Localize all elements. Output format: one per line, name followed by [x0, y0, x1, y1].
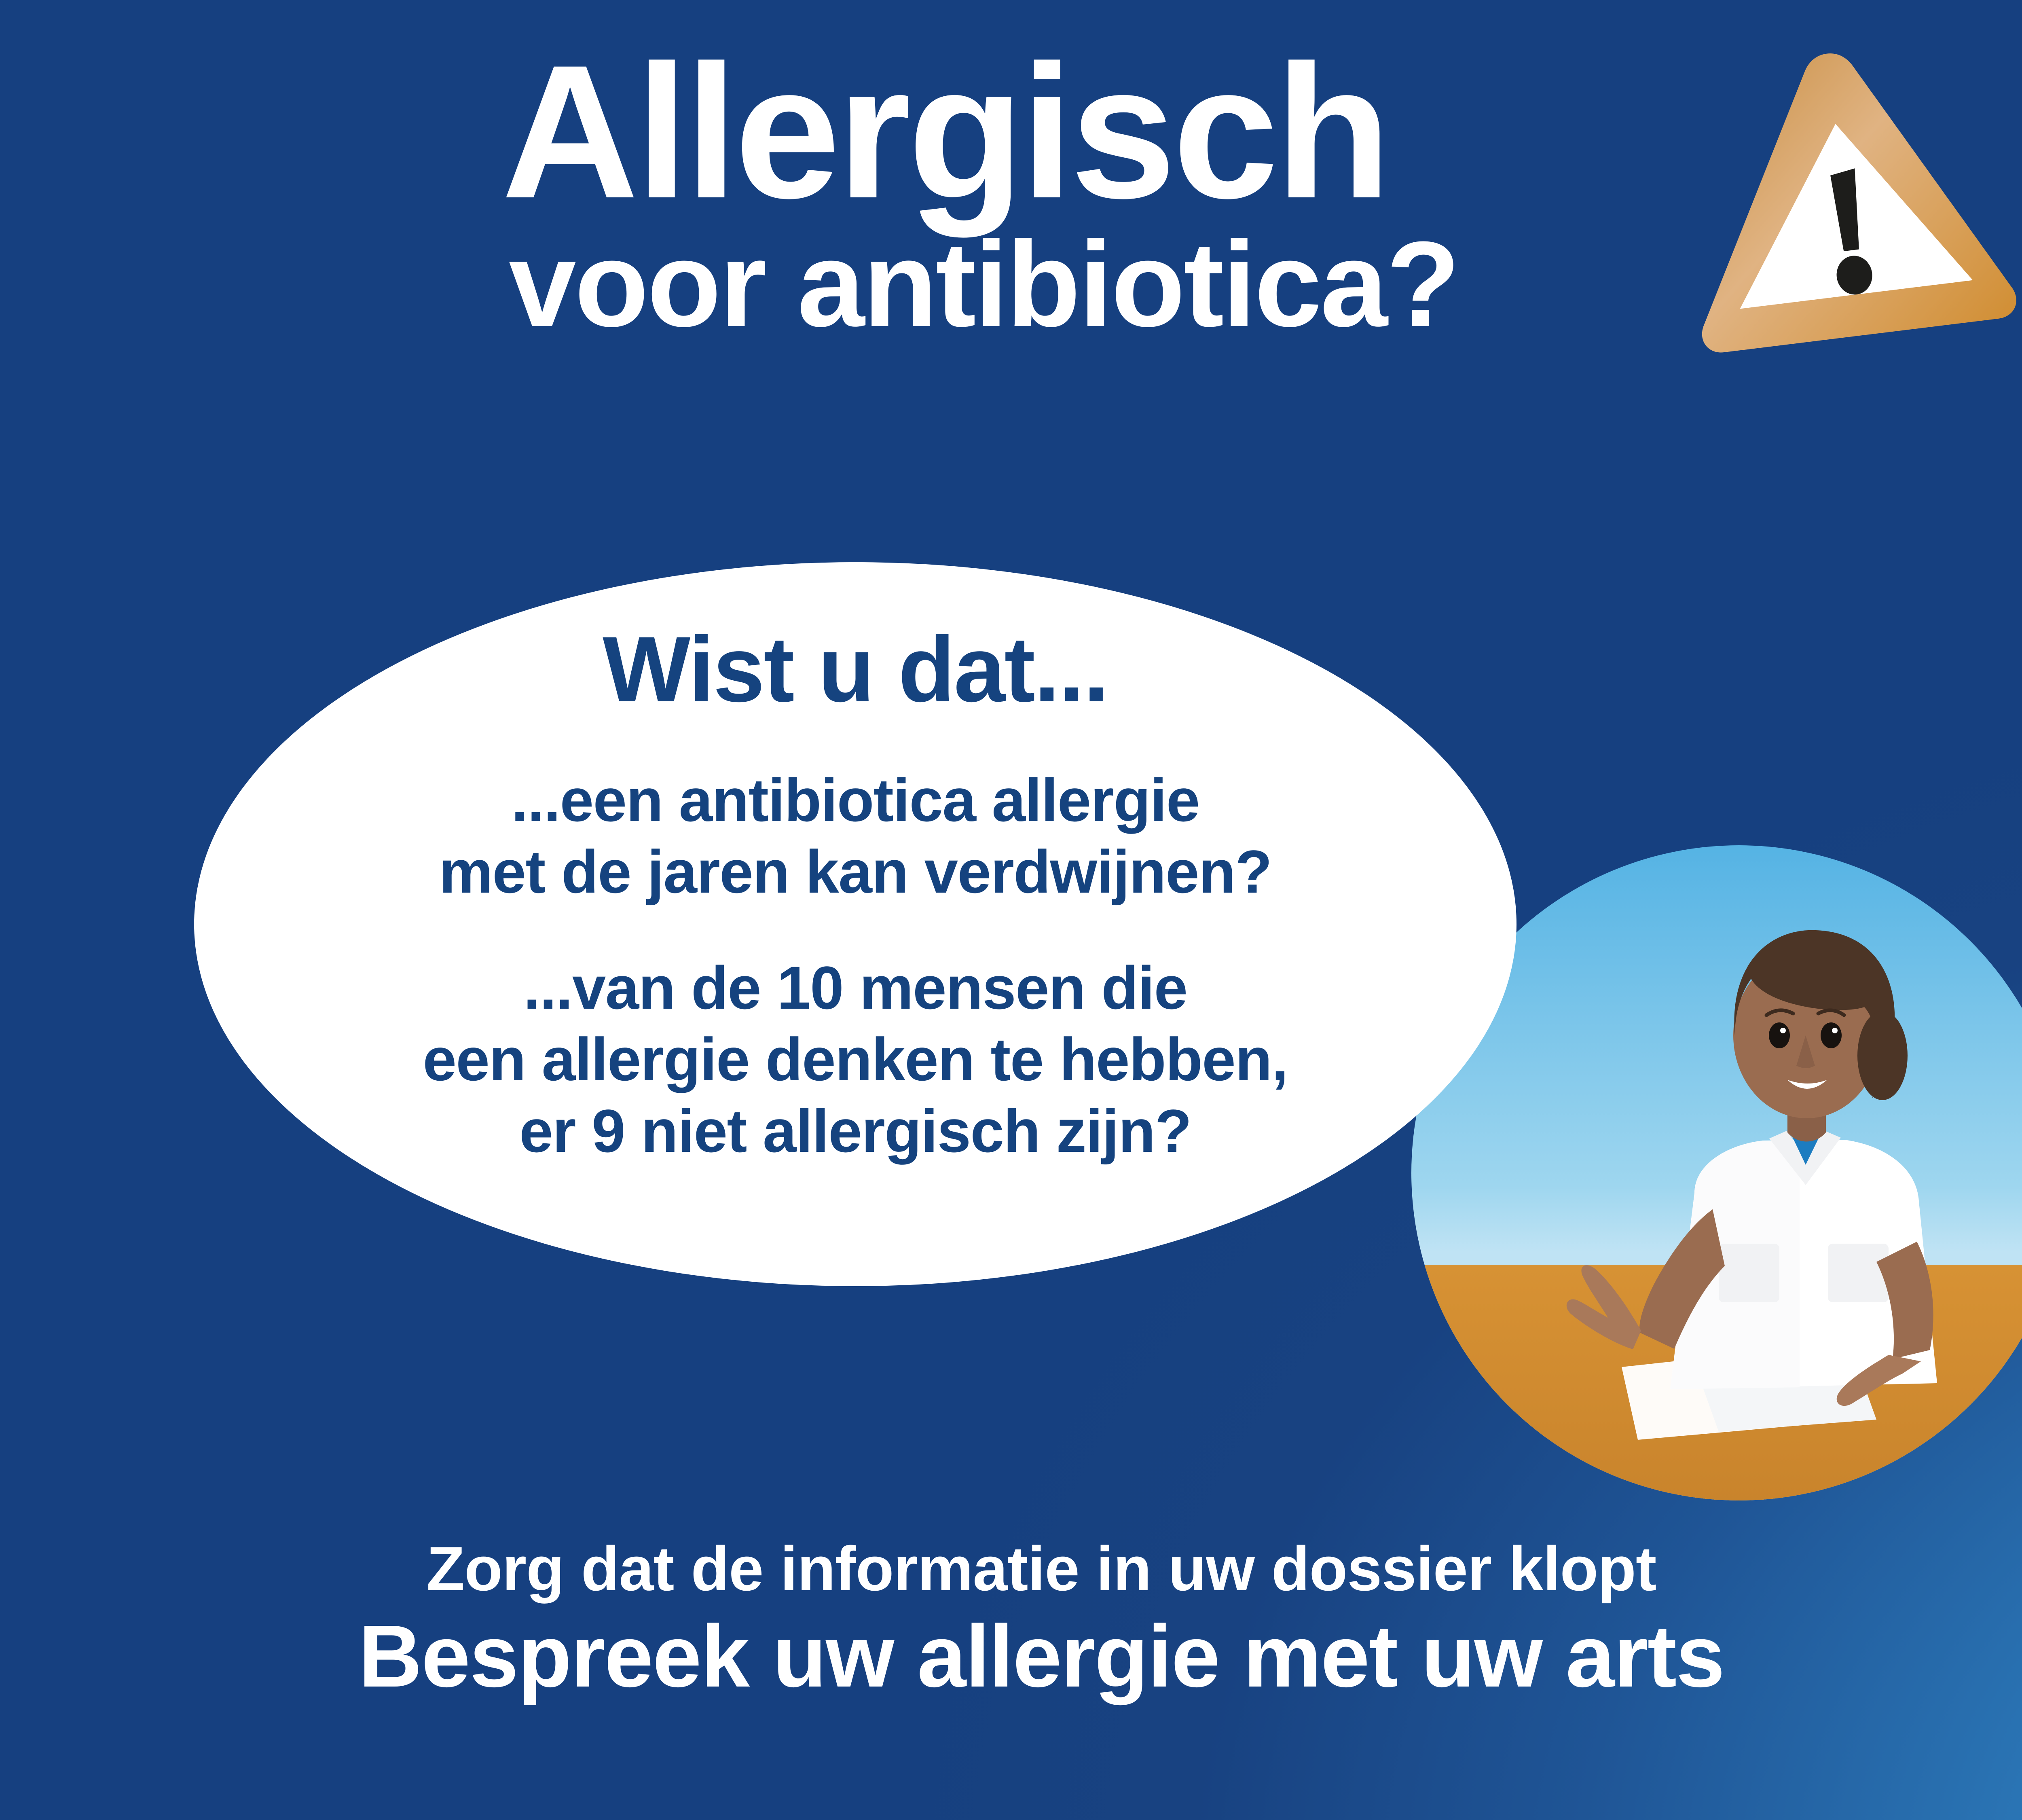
infographic-poster: Allergisch voor antibiotica? Wist u dat.…: [0, 0, 2022, 1820]
cta-line-2: Bespreek uw allergie met uw arts: [0, 1607, 2022, 1706]
bubble-paragraph-1: ...een antibiotica allergie met de jaren…: [439, 764, 1272, 908]
bubble-title: Wist u dat...: [603, 623, 1108, 716]
bubble-paragraph-2: ...van de 10 mensen die een allergie den…: [423, 952, 1288, 1167]
call-to-action: Zorg dat de informatie in uw dossier klo…: [0, 1533, 2022, 1706]
warning-triangle-icon: [1660, 17, 2022, 371]
left-column: Allergisch voor antibiotica? Wist u dat.…: [0, 0, 2022, 1820]
cta-line-1: Zorg dat de informatie in uw dossier klo…: [0, 1533, 2022, 1605]
speech-bubble: Wist u dat... ...een antibiotica allergi…: [194, 562, 1516, 1286]
